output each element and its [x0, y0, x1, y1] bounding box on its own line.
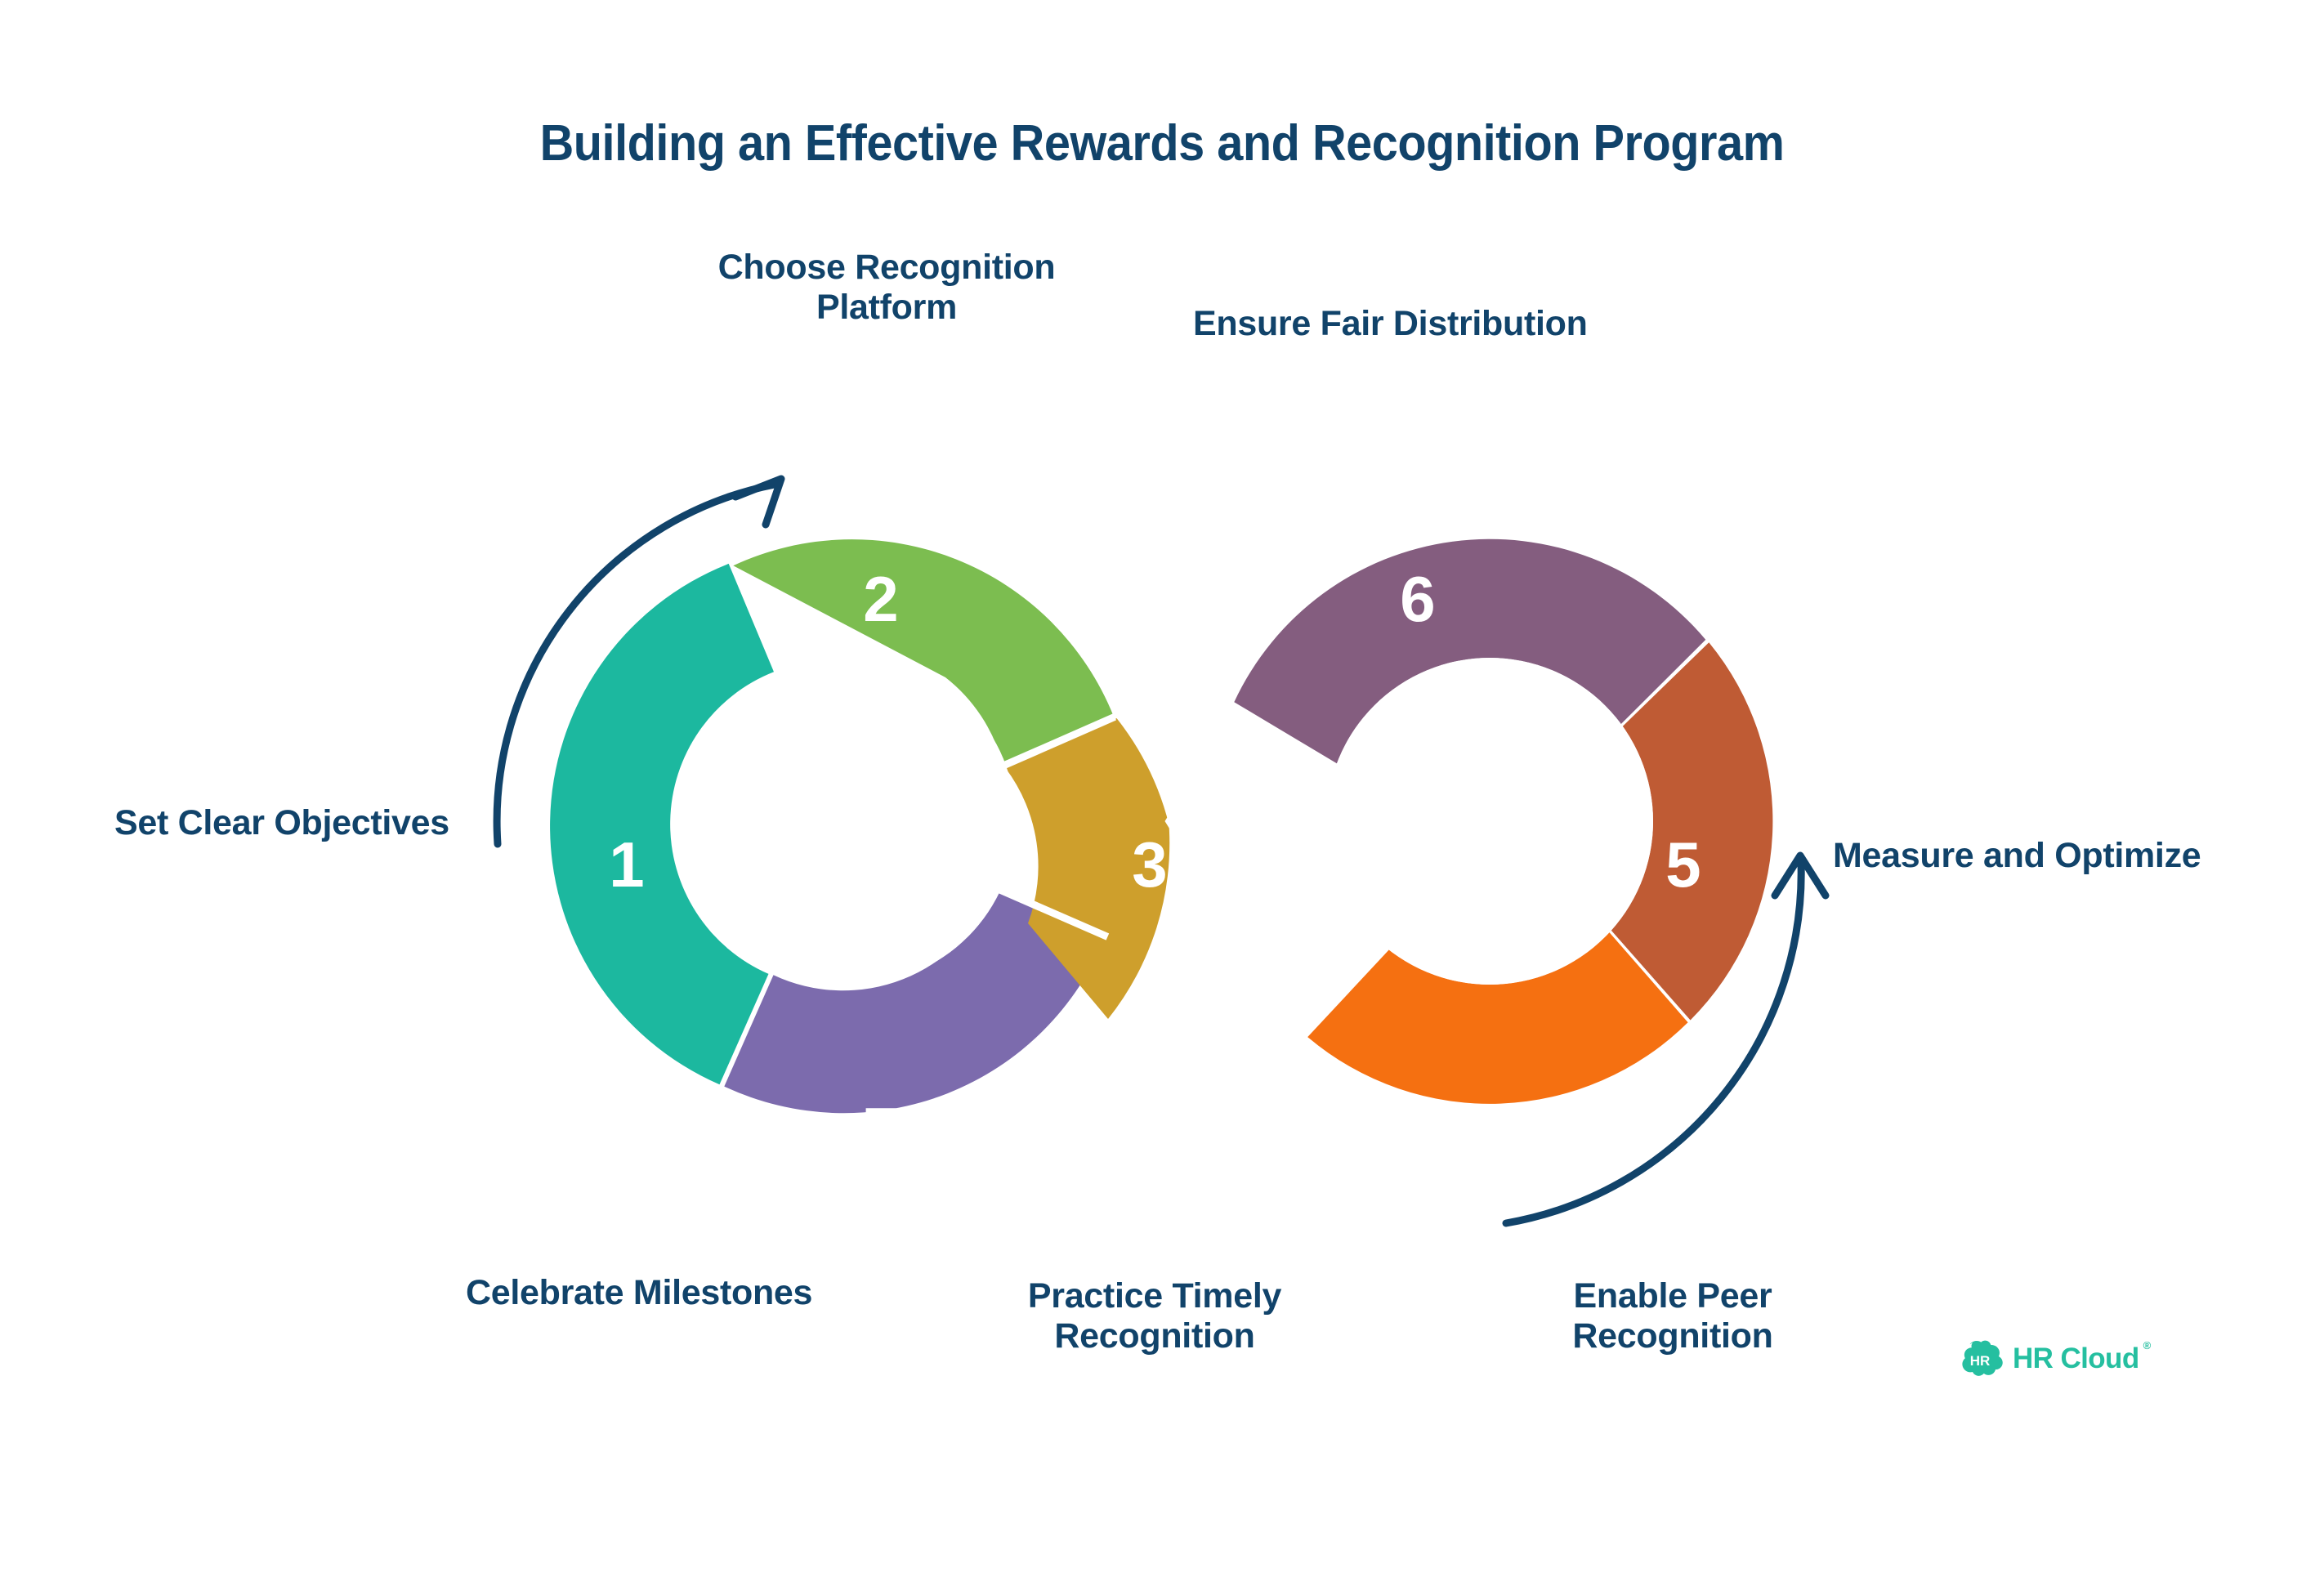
- logo-wordmark: HR Cloud ®: [2013, 1343, 2139, 1375]
- segment-6-ensure-fair-distribution[interactable]: [1234, 539, 1705, 766]
- cloud-icon: HR: [1956, 1340, 2004, 1378]
- segment-3-practice-timely-recognition[interactable]: [1006, 718, 1170, 1019]
- right-ring: [1234, 539, 1772, 1104]
- left-ring-hole-overlay: [689, 658, 1016, 985]
- left-flow-arrowhead: [735, 479, 781, 525]
- number-6: 6: [1400, 563, 1435, 635]
- hr-cloud-logo[interactable]: HR HR Cloud ®: [1956, 1336, 2139, 1382]
- infographic-canvas: Building an Effective Rewards and Recogn…: [0, 0, 2324, 1586]
- label-step-5: Measure and Optimize: [1833, 836, 2290, 876]
- segment-7-celebrate-milestones[interactable]: [724, 888, 1106, 1114]
- svg-text:HR: HR: [1970, 1353, 1991, 1369]
- number-3: 3: [1132, 829, 1167, 900]
- step-numbers: 1 2 3 4 5 6 7: [609, 563, 1701, 1166]
- ring-crossover-gap: [1170, 614, 1214, 1029]
- segment-2-choose-recognition-platform[interactable]: [733, 539, 1114, 764]
- left-ring: [550, 539, 1114, 1113]
- number-7: 7: [863, 1094, 898, 1166]
- number-5: 5: [1665, 829, 1701, 900]
- label-step-2: Choose Recognition Platform: [711, 248, 1062, 328]
- label-step-6: Ensure Fair Distribution: [1193, 304, 1651, 344]
- segment-3-left-divider: [1004, 717, 1115, 766]
- left-ring-hole: [689, 658, 1016, 985]
- label-step-1: Set Clear Objectives: [114, 803, 523, 843]
- number-2: 2: [863, 563, 898, 635]
- number-1: 1: [609, 829, 644, 900]
- trademark-symbol: ®: [2143, 1339, 2151, 1351]
- left-flow-arrow: [497, 485, 775, 844]
- segment-3-group: [996, 717, 1169, 1019]
- number-4: 4: [1400, 1094, 1435, 1166]
- segment-3-bottom-divider: [996, 888, 1107, 937]
- label-step-7: Celebrate Milestones: [466, 1273, 891, 1313]
- label-step-4: Enable Peer Recognition: [1538, 1276, 1808, 1356]
- segment-1-set-clear-objectives[interactable]: [550, 564, 774, 1084]
- page-title: Building an Effective Rewards and Recogn…: [82, 114, 2243, 172]
- segment-5-measure-and-optimize[interactable]: [1605, 642, 1772, 1020]
- right-flow-arrow: [1506, 862, 1801, 1223]
- label-step-3: Practice Timely Recognition: [1012, 1276, 1298, 1356]
- right-ring-hole: [1326, 658, 1653, 985]
- right-flow-arrowhead: [1775, 856, 1826, 896]
- logo-text: HR Cloud: [2013, 1343, 2139, 1374]
- segment-4-enable-peer-recognition[interactable]: [1307, 926, 1687, 1104]
- right-ring-hole-overlay: [1326, 658, 1653, 985]
